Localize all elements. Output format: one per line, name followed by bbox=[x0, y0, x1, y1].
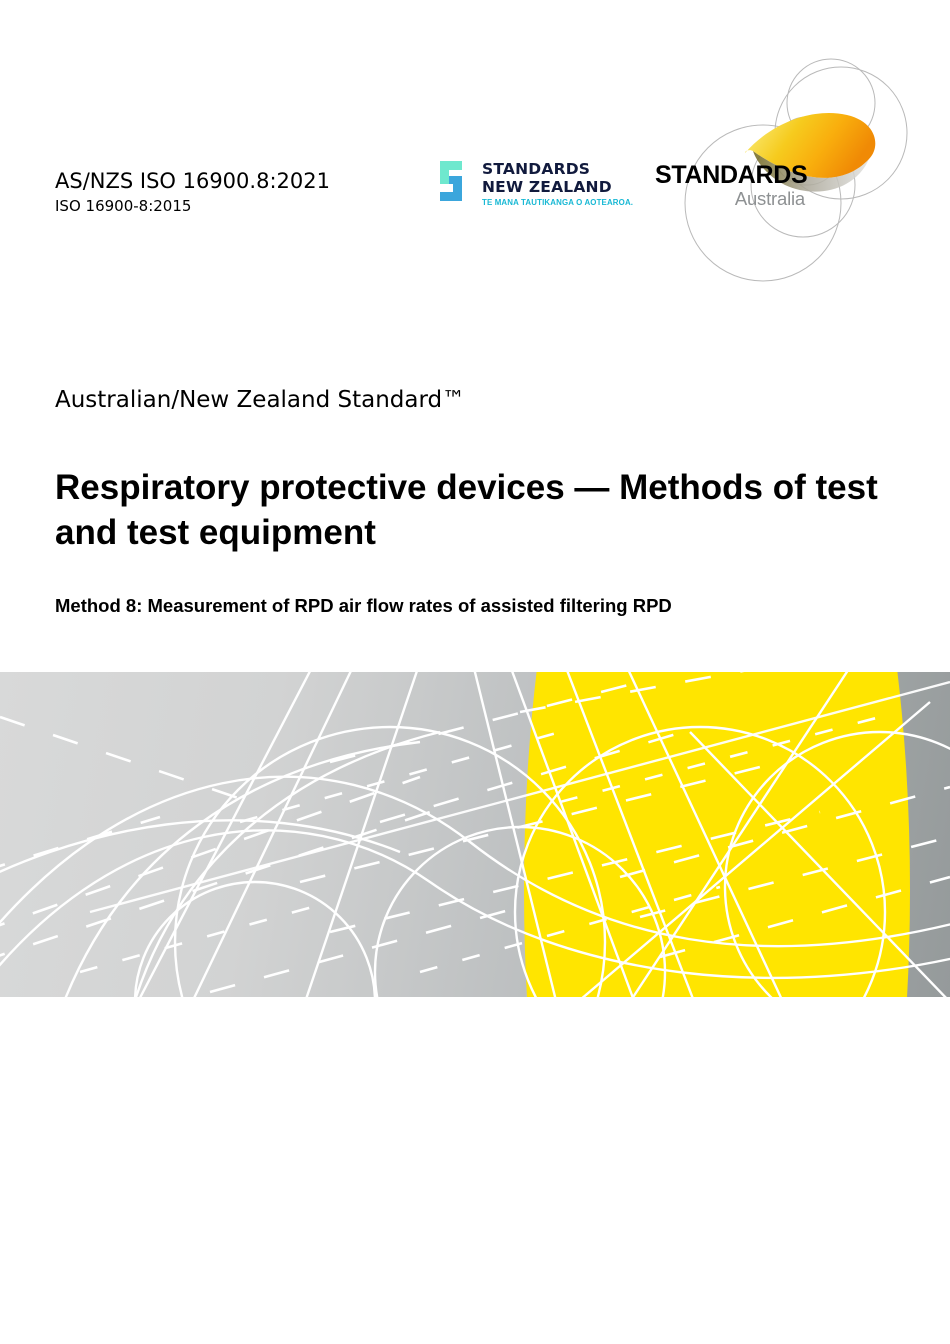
sa-wordmark-standards: STANDARDS bbox=[655, 163, 855, 188]
page-title: Respiratory protective devices — Methods… bbox=[55, 465, 895, 555]
snz-tagline: TE MANA TAUTIKANGA O AOTEAROA. bbox=[482, 198, 633, 207]
standards-new-zealand-mark-icon bbox=[440, 161, 474, 201]
cover-header: AS/NZS ISO 16900.8:2021 ISO 16900-8:2015… bbox=[0, 0, 950, 300]
method-subtitle: Method 8: Measurement of RPD air flow ra… bbox=[55, 593, 900, 619]
standards-australia-logo: STANDARDS Australia bbox=[645, 55, 935, 300]
cover-title-area: Australian/New Zealand Standard™ Respira… bbox=[55, 385, 900, 619]
standards-new-zealand-logo: STANDARDS NEW ZEALAND TE MANA TAUTIKANGA… bbox=[440, 161, 646, 207]
snz-wordmark-line2: NEW ZEALAND bbox=[482, 180, 646, 196]
series-title: Australian/New Zealand Standard™ bbox=[55, 385, 900, 415]
document-identifiers: AS/NZS ISO 16900.8:2021 ISO 16900-8:2015 bbox=[55, 168, 330, 217]
snz-wordmark-line1: STANDARDS bbox=[482, 162, 646, 178]
standards-australia-wordmark: STANDARDS Australia bbox=[655, 163, 855, 208]
cover-decorative-graphic bbox=[0, 672, 950, 997]
standards-new-zealand-wordmark: STANDARDS NEW ZEALAND TE MANA TAUTIKANGA… bbox=[482, 161, 646, 207]
sa-wordmark-australia: Australia bbox=[655, 189, 805, 208]
document-id-primary: AS/NZS ISO 16900.8:2021 bbox=[55, 168, 330, 195]
document-id-secondary: ISO 16900-8:2015 bbox=[55, 195, 330, 217]
decorative-line-art bbox=[0, 672, 950, 997]
